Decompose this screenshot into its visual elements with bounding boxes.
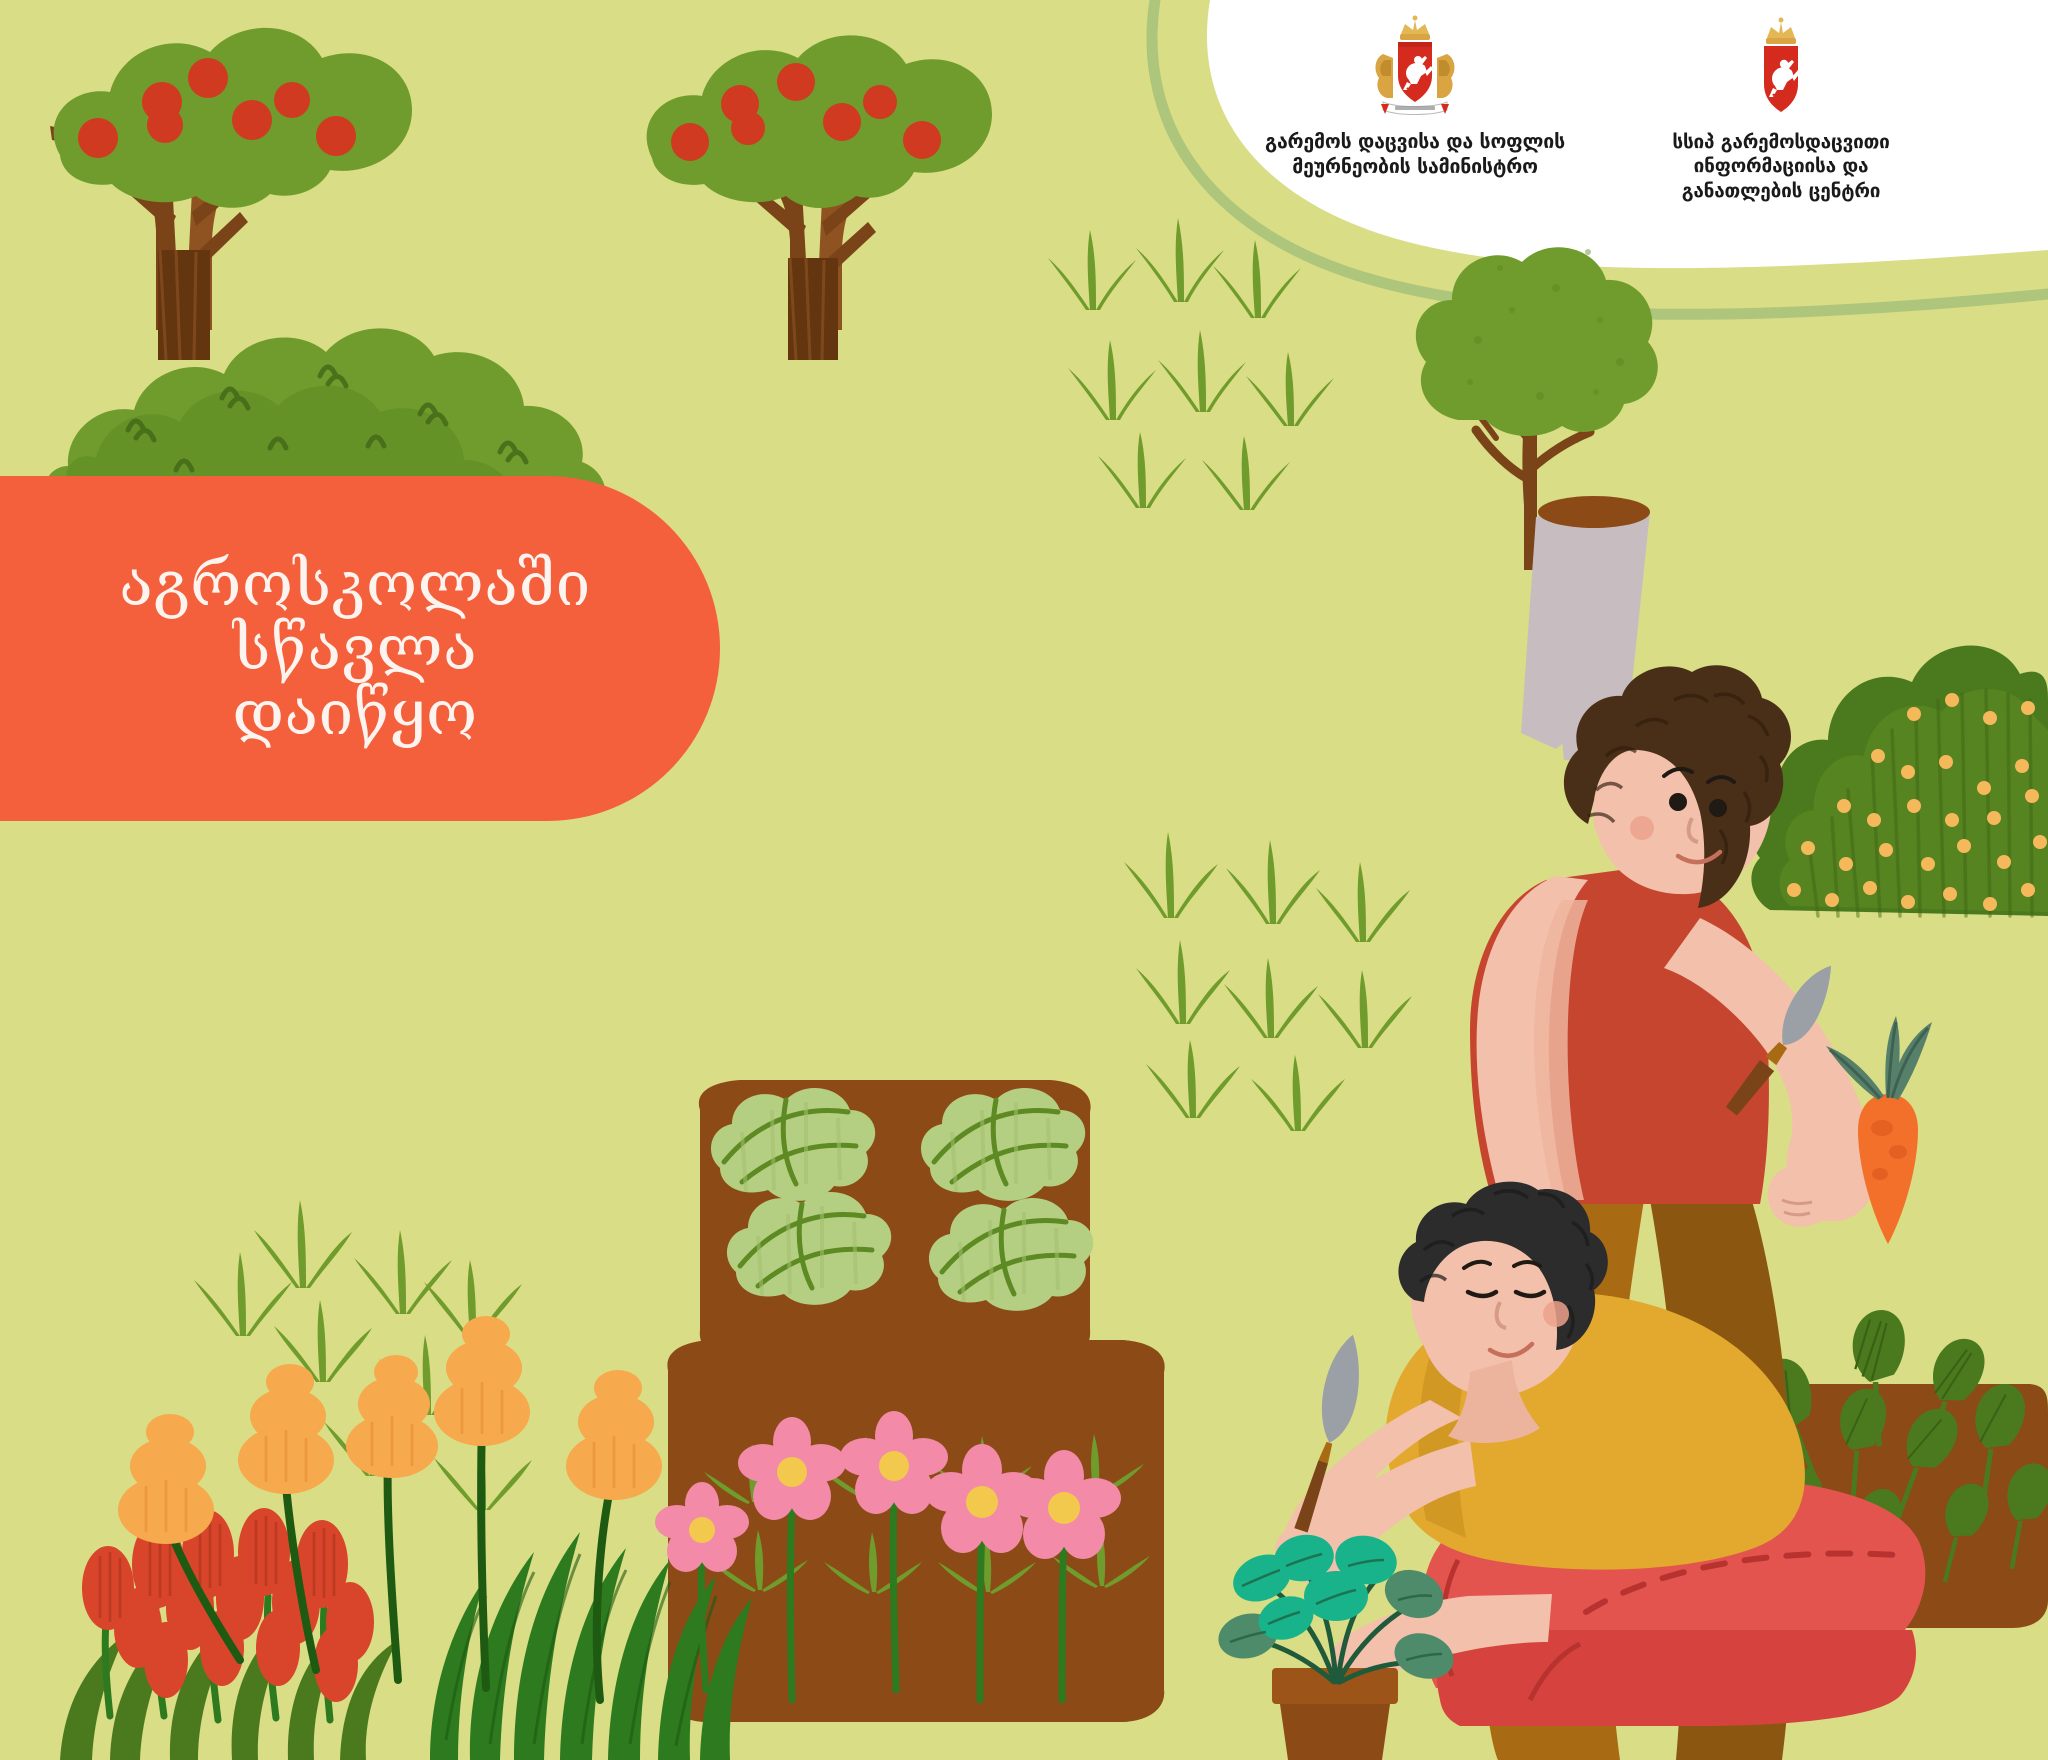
- poster-canvas: აგროსკოლაში სწავლა დაიწყო: [0, 0, 2048, 1760]
- center-logo-line1: სსიპ გარემოსდაცვითი: [1672, 130, 1889, 154]
- ministry-logo-line1: გარემოს დაცვისა და სოფლის: [1265, 130, 1565, 155]
- header-logos: გარემოს დაცვისა და სოფლის მეურნეობის სამ…: [1190, 0, 2048, 230]
- title-line-1: აგროსკოლაში: [119, 552, 591, 616]
- title-line-2: სწავლა: [233, 616, 477, 680]
- georgia-coat-of-arms-icon: [1369, 14, 1461, 124]
- kneeling-gardener: [0, 0, 2048, 1760]
- georgia-small-coat-of-arms-icon: [1735, 14, 1827, 124]
- title-line-3: დაიწყო: [232, 681, 477, 745]
- center-logo-line3: განათლების ცენტრი: [1672, 179, 1889, 203]
- center-logo-line2: ინფორმაციისა და: [1672, 154, 1889, 178]
- title-banner: აგროსკოლაში სწავლა დაიწყო: [0, 476, 720, 821]
- center-logo: სსიპ გარემოსდაცვითი ინფორმაციისა და განა…: [1616, 14, 1946, 203]
- ministry-logo-line2: მეურნეობის სამინისტრო: [1265, 155, 1565, 180]
- ministry-logo: გარემოს დაცვისა და სოფლის მეურნეობის სამ…: [1250, 14, 1580, 180]
